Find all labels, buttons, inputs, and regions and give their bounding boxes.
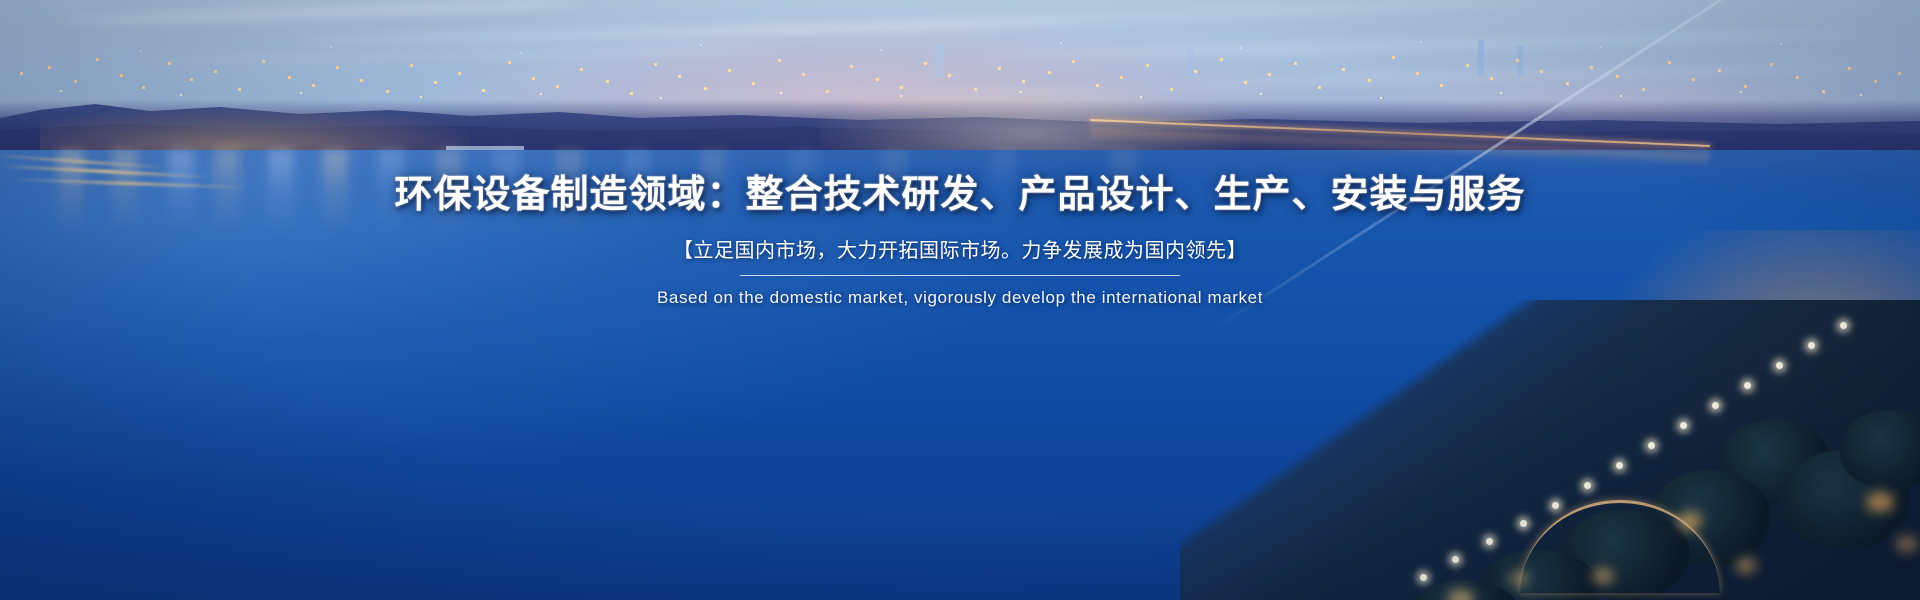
text-divider <box>740 275 1180 276</box>
hero-banner: 环保设备制造领域：整合技术研发、产品设计、生产、安装与服务 【立足国内市场，大力… <box>0 0 1920 600</box>
banner-text-overlay: 环保设备制造领域：整合技术研发、产品设计、生产、安装与服务 【立足国内市场，大力… <box>0 0 1920 600</box>
banner-subheadline: 【立足国内市场，大力开拓国际市场。力争发展成为国内领先】 <box>673 234 1247 263</box>
banner-headline: 环保设备制造领域：整合技术研发、产品设计、生产、安装与服务 <box>394 163 1525 218</box>
banner-english-tagline: Based on the domestic market, vigorously… <box>657 288 1263 308</box>
